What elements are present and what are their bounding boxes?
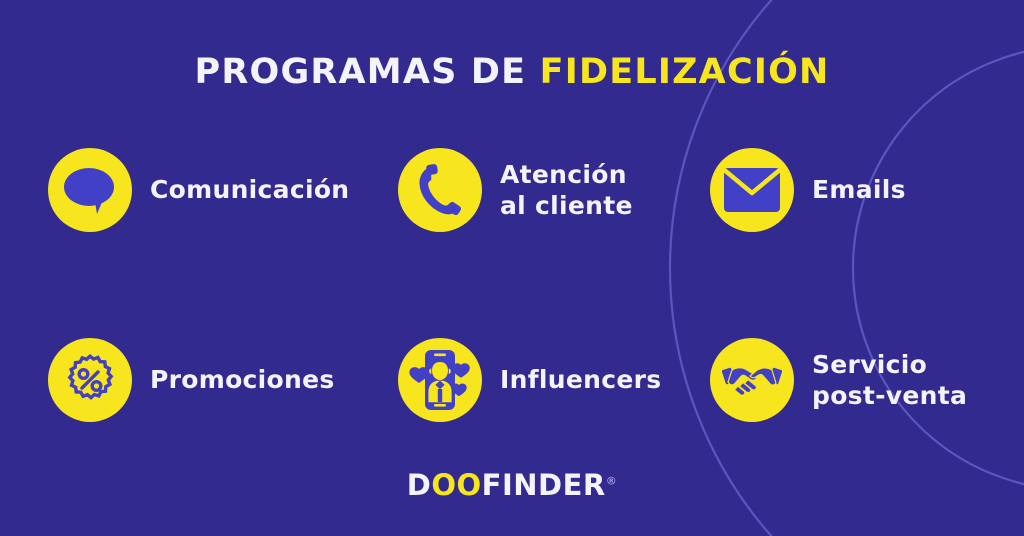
item-label: Promociones [150, 364, 335, 395]
item-atencion-al-cliente[interactable]: Atención al cliente [398, 148, 633, 232]
page-title: PROGRAMAS DE FIDELIZACIÓN [0, 52, 1024, 92]
logo-part-finder: FINDER [482, 468, 606, 502]
icon-badge [398, 338, 482, 422]
title-part-highlight: FIDELIZACIÓN [540, 52, 830, 92]
item-label: Comunicación [150, 174, 349, 205]
smartphone-person-hearts-icon [407, 349, 473, 411]
item-comunicacion[interactable]: Comunicación [48, 148, 349, 232]
icon-badge [48, 148, 132, 232]
item-label: Emails [812, 174, 906, 205]
logo-part-d: D [407, 468, 432, 502]
item-label: Atención al cliente [500, 159, 633, 222]
logo-wordmark: DOOFINDER® [407, 468, 617, 502]
item-label: Influencers [500, 364, 661, 395]
doofinder-logo: DOOFINDER® [0, 468, 1024, 502]
item-emails[interactable]: Emails [710, 148, 906, 232]
phone-handset-icon [414, 164, 466, 216]
logo-part-oo: OO [431, 468, 481, 502]
item-influencers[interactable]: Influencers [398, 338, 661, 422]
registered-mark: ® [606, 474, 618, 487]
item-promociones[interactable]: Promociones [48, 338, 335, 422]
title-part-white: PROGRAMAS DE [194, 52, 526, 92]
handshake-icon [722, 358, 782, 402]
icon-badge [398, 148, 482, 232]
item-label: Servicio post-venta [812, 349, 967, 412]
speech-bubble-icon [61, 164, 119, 216]
item-servicio-post-venta[interactable]: Servicio post-venta [710, 338, 967, 422]
icon-badge [48, 338, 132, 422]
icon-badge [710, 338, 794, 422]
envelope-icon [723, 167, 781, 213]
infographic-canvas: PROGRAMAS DE FIDELIZACIÓN Comunicación [0, 0, 1024, 536]
icon-badge [710, 148, 794, 232]
discount-badge-percent-icon [63, 353, 117, 407]
